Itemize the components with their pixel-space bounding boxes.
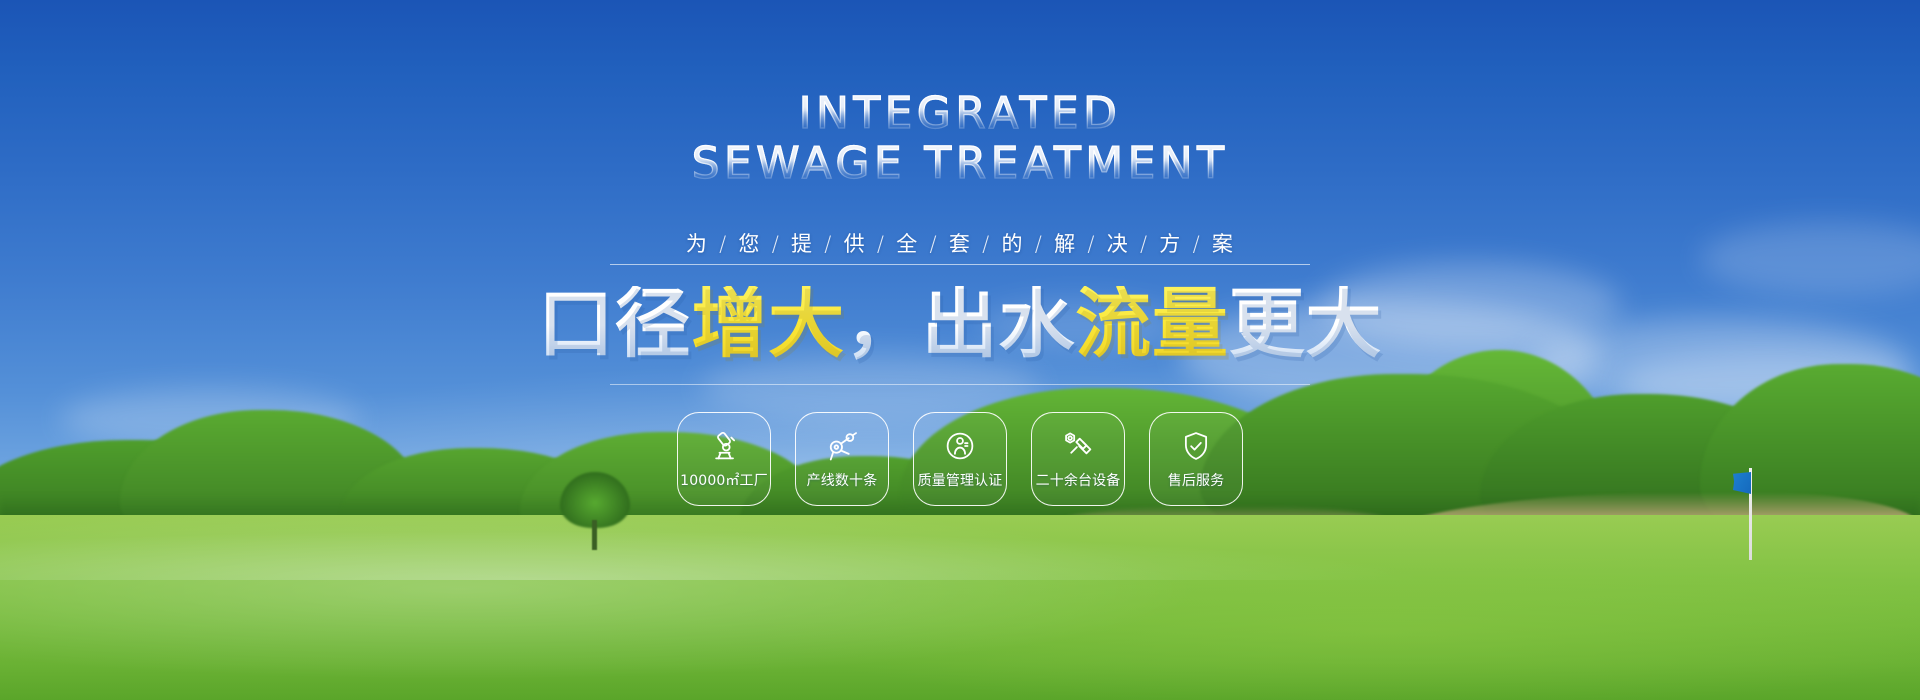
certification-badge-icon	[942, 428, 978, 464]
feature-badge-label: 产线数十条	[807, 470, 878, 490]
tree-trunk	[592, 520, 597, 550]
feature-badge-label: 质量管理认证	[918, 470, 1003, 490]
feature-badge-label: 售后服务	[1168, 470, 1225, 490]
shield-check-icon	[1178, 428, 1214, 464]
microscope-icon	[706, 428, 742, 464]
bolt-nut-icon	[1060, 428, 1096, 464]
feature-badge-2[interactable]: 产线数十条	[795, 412, 889, 506]
hero-banner: INTEGRATED SEWAGE TREATMENT 为/您/提/供/全/套/…	[0, 0, 1920, 700]
cloud-decoration	[980, 300, 1180, 350]
feature-badge-1[interactable]: 10000㎡工厂	[677, 412, 771, 506]
feature-badge-label: 二十余台设备	[1036, 470, 1121, 490]
feature-badge-row: 10000㎡工厂产线数十条质量管理认证二十余台设备售后服务	[0, 412, 1920, 506]
grass-highlight	[0, 510, 1920, 580]
grass-field	[0, 515, 1920, 700]
feature-badge-label: 10000㎡工厂	[680, 470, 768, 490]
feature-badge-3[interactable]: 质量管理认证	[913, 412, 1007, 506]
production-line-icon	[824, 428, 860, 464]
feature-badge-5[interactable]: 售后服务	[1149, 412, 1243, 506]
feature-badge-4[interactable]: 二十余台设备	[1031, 412, 1125, 506]
